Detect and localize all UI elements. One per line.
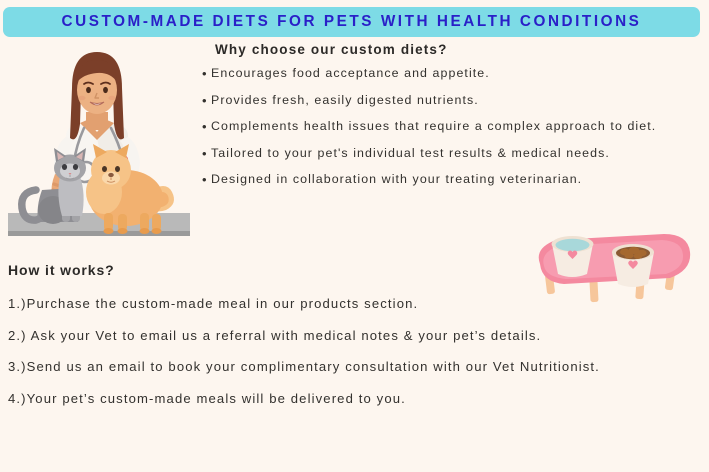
step-item: 1.)Purchase the custom-made meal in our … [8, 295, 698, 313]
benefit-item: • Designed in collaboration with your tr… [199, 172, 704, 188]
step-item: 3.)Send us an email to book your complim… [8, 358, 698, 376]
benefit-item: • Encourages food acceptance and appetit… [199, 66, 704, 82]
benefit-item: • Complements health issues that require… [199, 119, 704, 135]
how-it-works-section: How it works? 1.)Purchase the custom-mad… [8, 262, 703, 421]
benefits-heading: Why choose our custom diets? [215, 42, 704, 57]
benefit-text: Encourages food acceptance and appetite. [211, 66, 490, 82]
benefit-item: • Tailored to your pet's individual test… [199, 146, 704, 162]
bullet-icon: • [199, 119, 211, 135]
benefit-text: Tailored to your pet's individual test r… [211, 146, 610, 162]
page-title: CUSTOM-MADE DIETS FOR PETS WITH HEALTH C… [62, 13, 642, 31]
benefit-text: Complements health issues that require a… [211, 119, 656, 135]
benefit-item: • Provides fresh, easily digested nutrie… [199, 93, 704, 109]
bullet-icon: • [199, 172, 211, 188]
bullet-icon: • [199, 146, 211, 162]
vet-face-shape [77, 60, 117, 114]
veterinarian-illustration [0, 40, 198, 245]
header-banner: CUSTOM-MADE DIETS FOR PETS WITH HEALTH C… [3, 7, 700, 37]
step-item: 2.) Ask your Vet to email us a referral … [8, 327, 698, 345]
benefit-text: Provides fresh, easily digested nutrient… [211, 93, 479, 109]
bullet-icon: • [199, 66, 211, 82]
poster-page: CUSTOM-MADE DIETS FOR PETS WITH HEALTH C… [0, 0, 709, 472]
benefits-section: Why choose our custom diets? • Encourage… [199, 42, 704, 199]
bullet-icon: • [199, 93, 211, 109]
how-it-works-heading: How it works? [8, 262, 703, 278]
benefit-text: Designed in collaboration with your trea… [211, 172, 582, 188]
step-item: 4.)Your pet’s custom-made meals will be … [8, 390, 698, 408]
